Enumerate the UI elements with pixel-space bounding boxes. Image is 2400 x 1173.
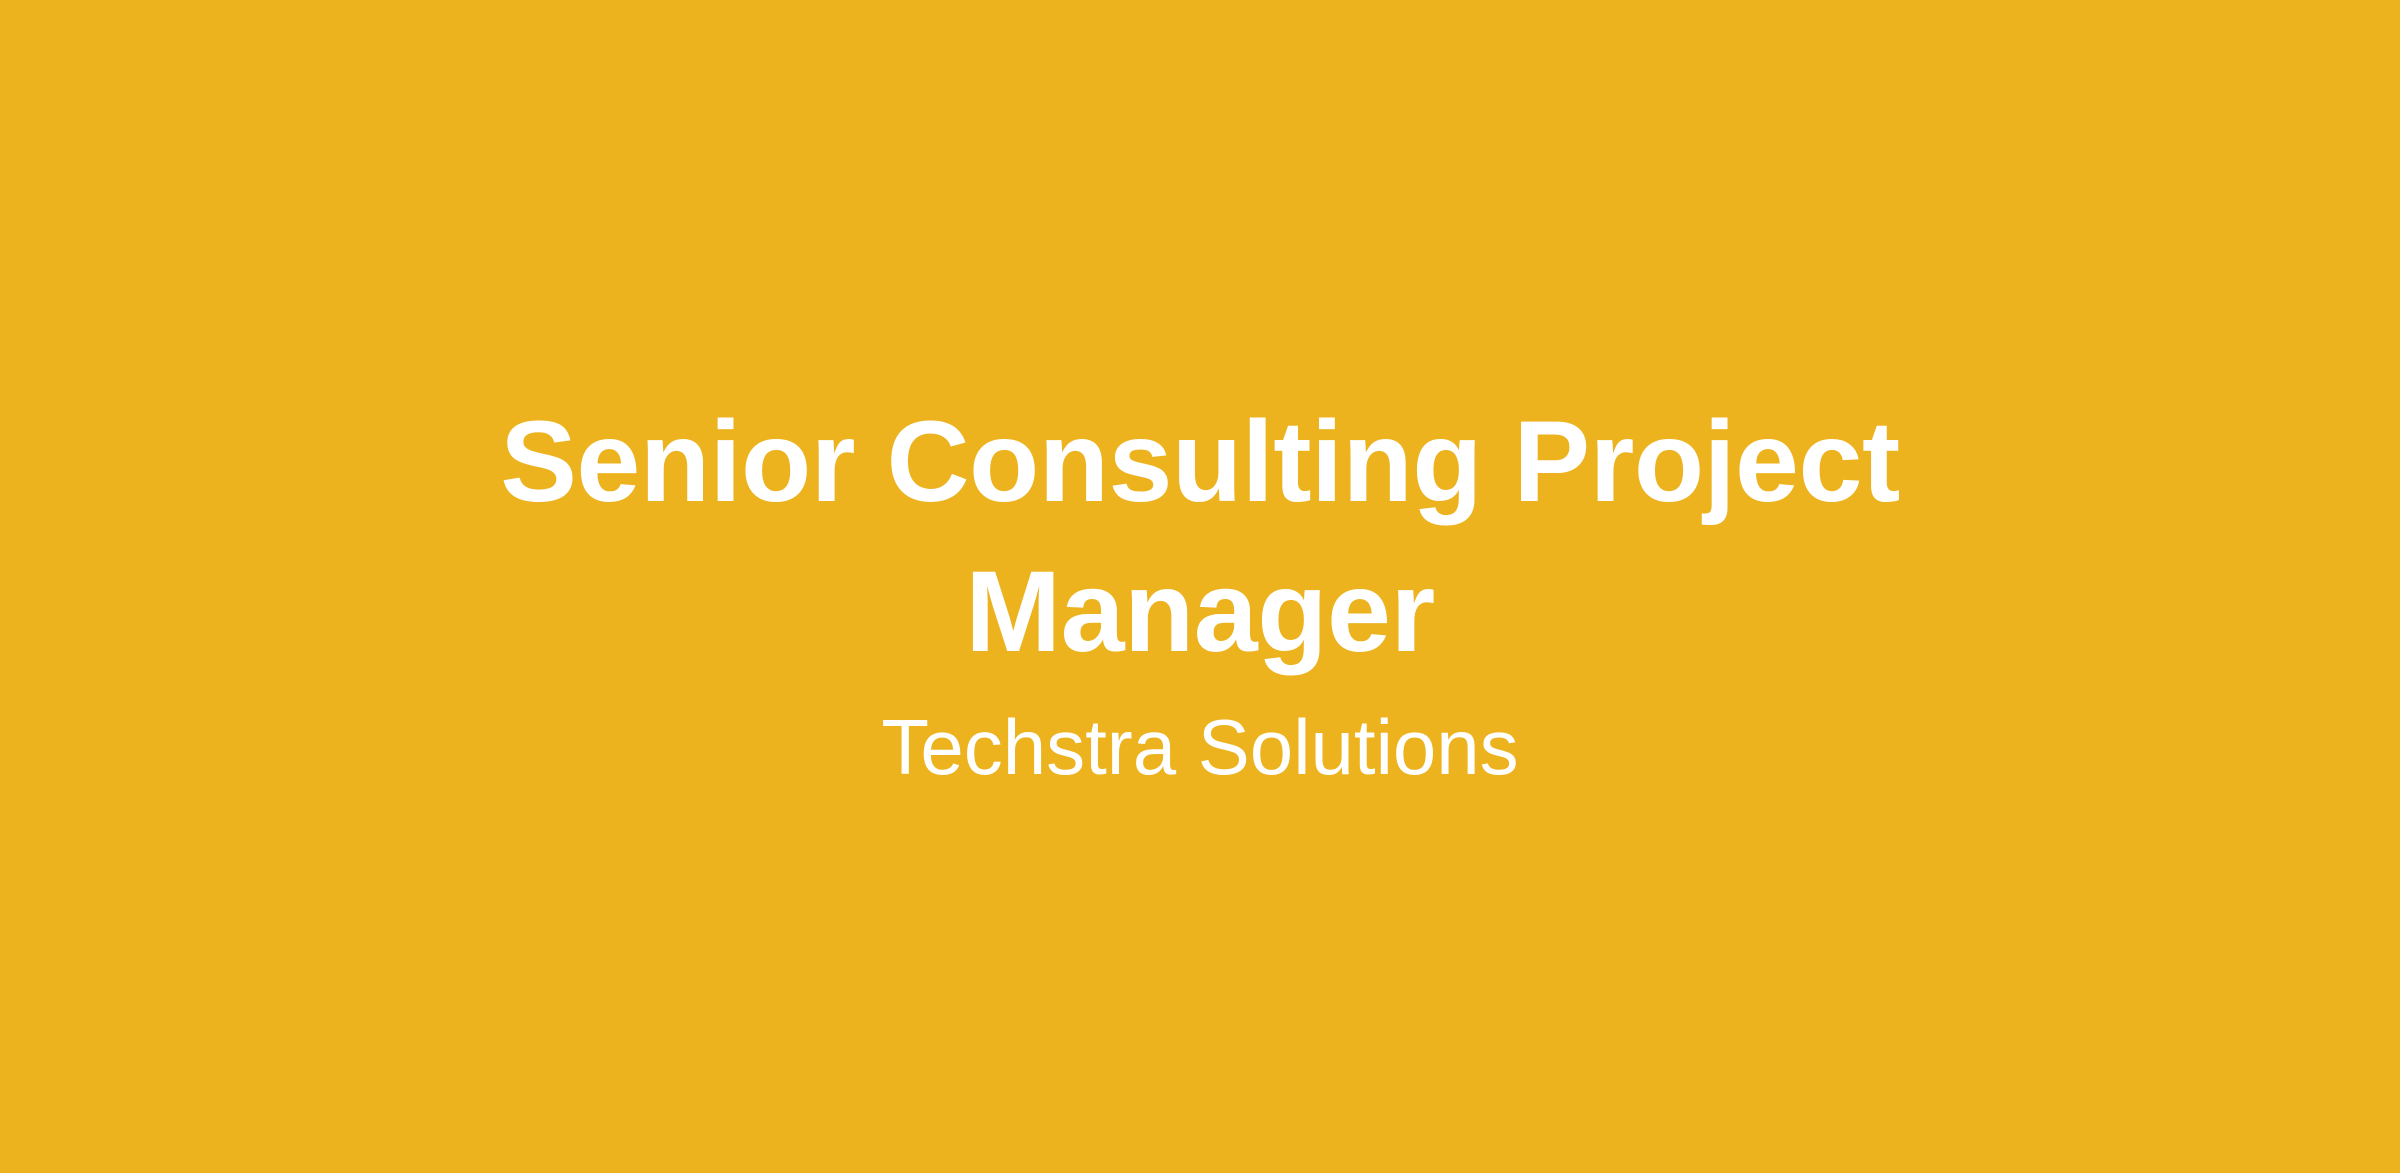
company-name: Techstra Solutions [881,701,1518,793]
hero-text-block: Senior Consulting Project Manager Techst… [460,387,1940,793]
job-posting-hero-banner: Senior Consulting Project Manager Techst… [0,0,2400,1173]
job-title: Senior Consulting Project Manager [460,387,1940,687]
